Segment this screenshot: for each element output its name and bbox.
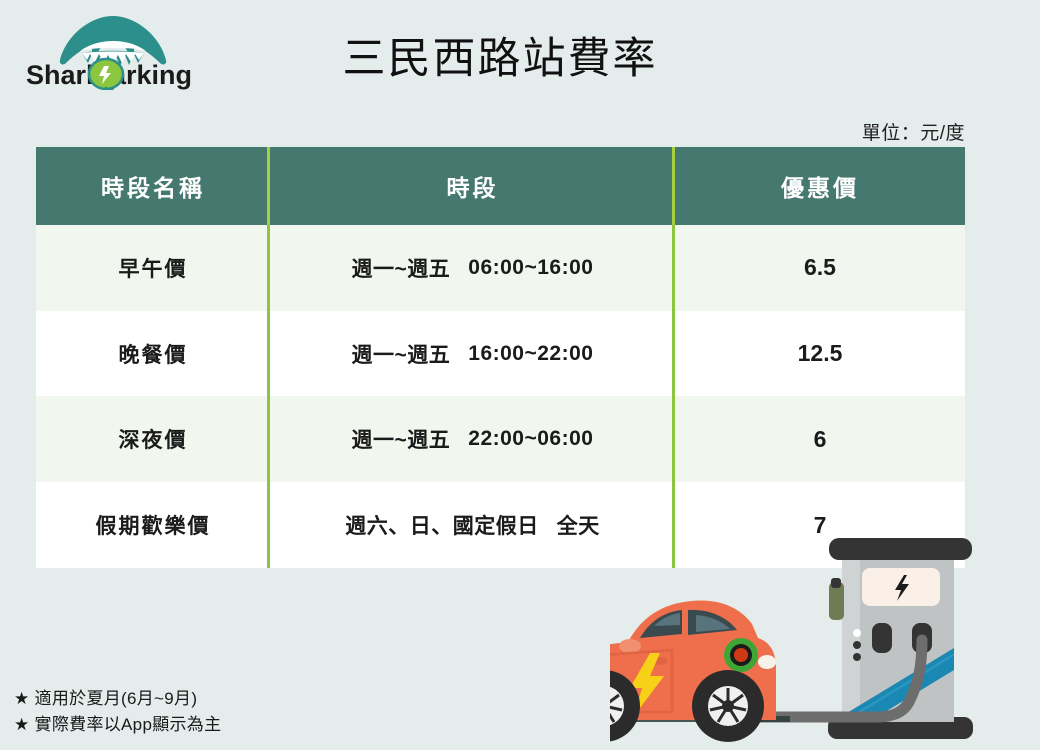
- cell-period-name: 晚餐價: [36, 311, 270, 397]
- table-header-row: 時段名稱 時段 優惠價: [36, 147, 965, 225]
- cell-price: 6: [675, 396, 965, 482]
- unit-note: 單位：元/度: [862, 118, 965, 145]
- charging-port-icon: [724, 638, 758, 672]
- cell-period: 週一~週五 16:00~22:00: [270, 311, 675, 397]
- cell-period-days: 週六、日、國定假日: [345, 510, 539, 540]
- plug-p-badge-icon: [89, 59, 123, 90]
- shark-parking-logo: Shark arking: [18, 8, 208, 90]
- cell-period-days: 週一~週五: [352, 424, 451, 454]
- table-row: 早午價 週一~週五 06:00~16:00 6.5: [36, 225, 965, 311]
- cell-period-days: 週一~週五: [352, 253, 451, 283]
- rate-table: 時段名稱 時段 優惠價 早午價 週一~週五 06:00~16:00 6.5 晚餐…: [36, 147, 965, 568]
- page-title: 三民西路站費率: [260, 24, 740, 86]
- column-header-period-name: 時段名稱: [36, 147, 270, 225]
- charger-socket-icon: [872, 623, 892, 653]
- star-icon: ★: [14, 686, 30, 712]
- shark-head-icon: [60, 16, 166, 66]
- indicator-dot-icon: [853, 653, 861, 661]
- cell-period: 週一~週五 06:00~16:00: [270, 225, 675, 311]
- cell-period: 週一~週五 22:00~06:00: [270, 396, 675, 482]
- footnotes: ★適用於夏月(6月~9月) ★實際費率以App顯示為主: [14, 686, 221, 738]
- footnote-text: 實際費率以App顯示為主: [35, 715, 222, 734]
- indicator-dot-icon: [853, 629, 861, 637]
- cell-period-days: 週一~週五: [352, 339, 451, 369]
- cell-price: 12.5: [675, 311, 965, 397]
- cell-period-time: 06:00~16:00: [468, 256, 593, 280]
- electric-car-icon: [610, 601, 790, 742]
- cell-period-time: 16:00~22:00: [468, 342, 593, 366]
- column-header-price: 優惠價: [675, 147, 965, 225]
- cell-price: 6.5: [675, 225, 965, 311]
- footnote-item: ★實際費率以App顯示為主: [14, 712, 221, 738]
- cell-period-time: 22:00~06:00: [468, 427, 593, 451]
- rate-card-page: Shark arking 三民西路站費率 單位：元/度 時段名稱 時段 優惠價 …: [0, 0, 1040, 750]
- footnote-text: 適用於夏月(6月~9月): [35, 689, 198, 708]
- cell-period-name: 早午價: [36, 225, 270, 311]
- cell-period-name: 假期歡樂價: [36, 482, 270, 568]
- footnote-item: ★適用於夏月(6月~9月): [14, 686, 221, 712]
- car-wheel-icon: [692, 670, 764, 742]
- cell-period-name: 深夜價: [36, 396, 270, 482]
- table-row: 深夜價 週一~週五 22:00~06:00 6: [36, 396, 965, 482]
- ev-charging-illustration: [610, 520, 1040, 750]
- indicator-dot-icon: [853, 641, 861, 649]
- cell-period-time: 全天: [557, 510, 600, 540]
- column-header-period: 時段: [270, 147, 675, 225]
- star-icon: ★: [14, 712, 30, 738]
- table-row: 晚餐價 週一~週五 16:00~22:00 12.5: [36, 311, 965, 397]
